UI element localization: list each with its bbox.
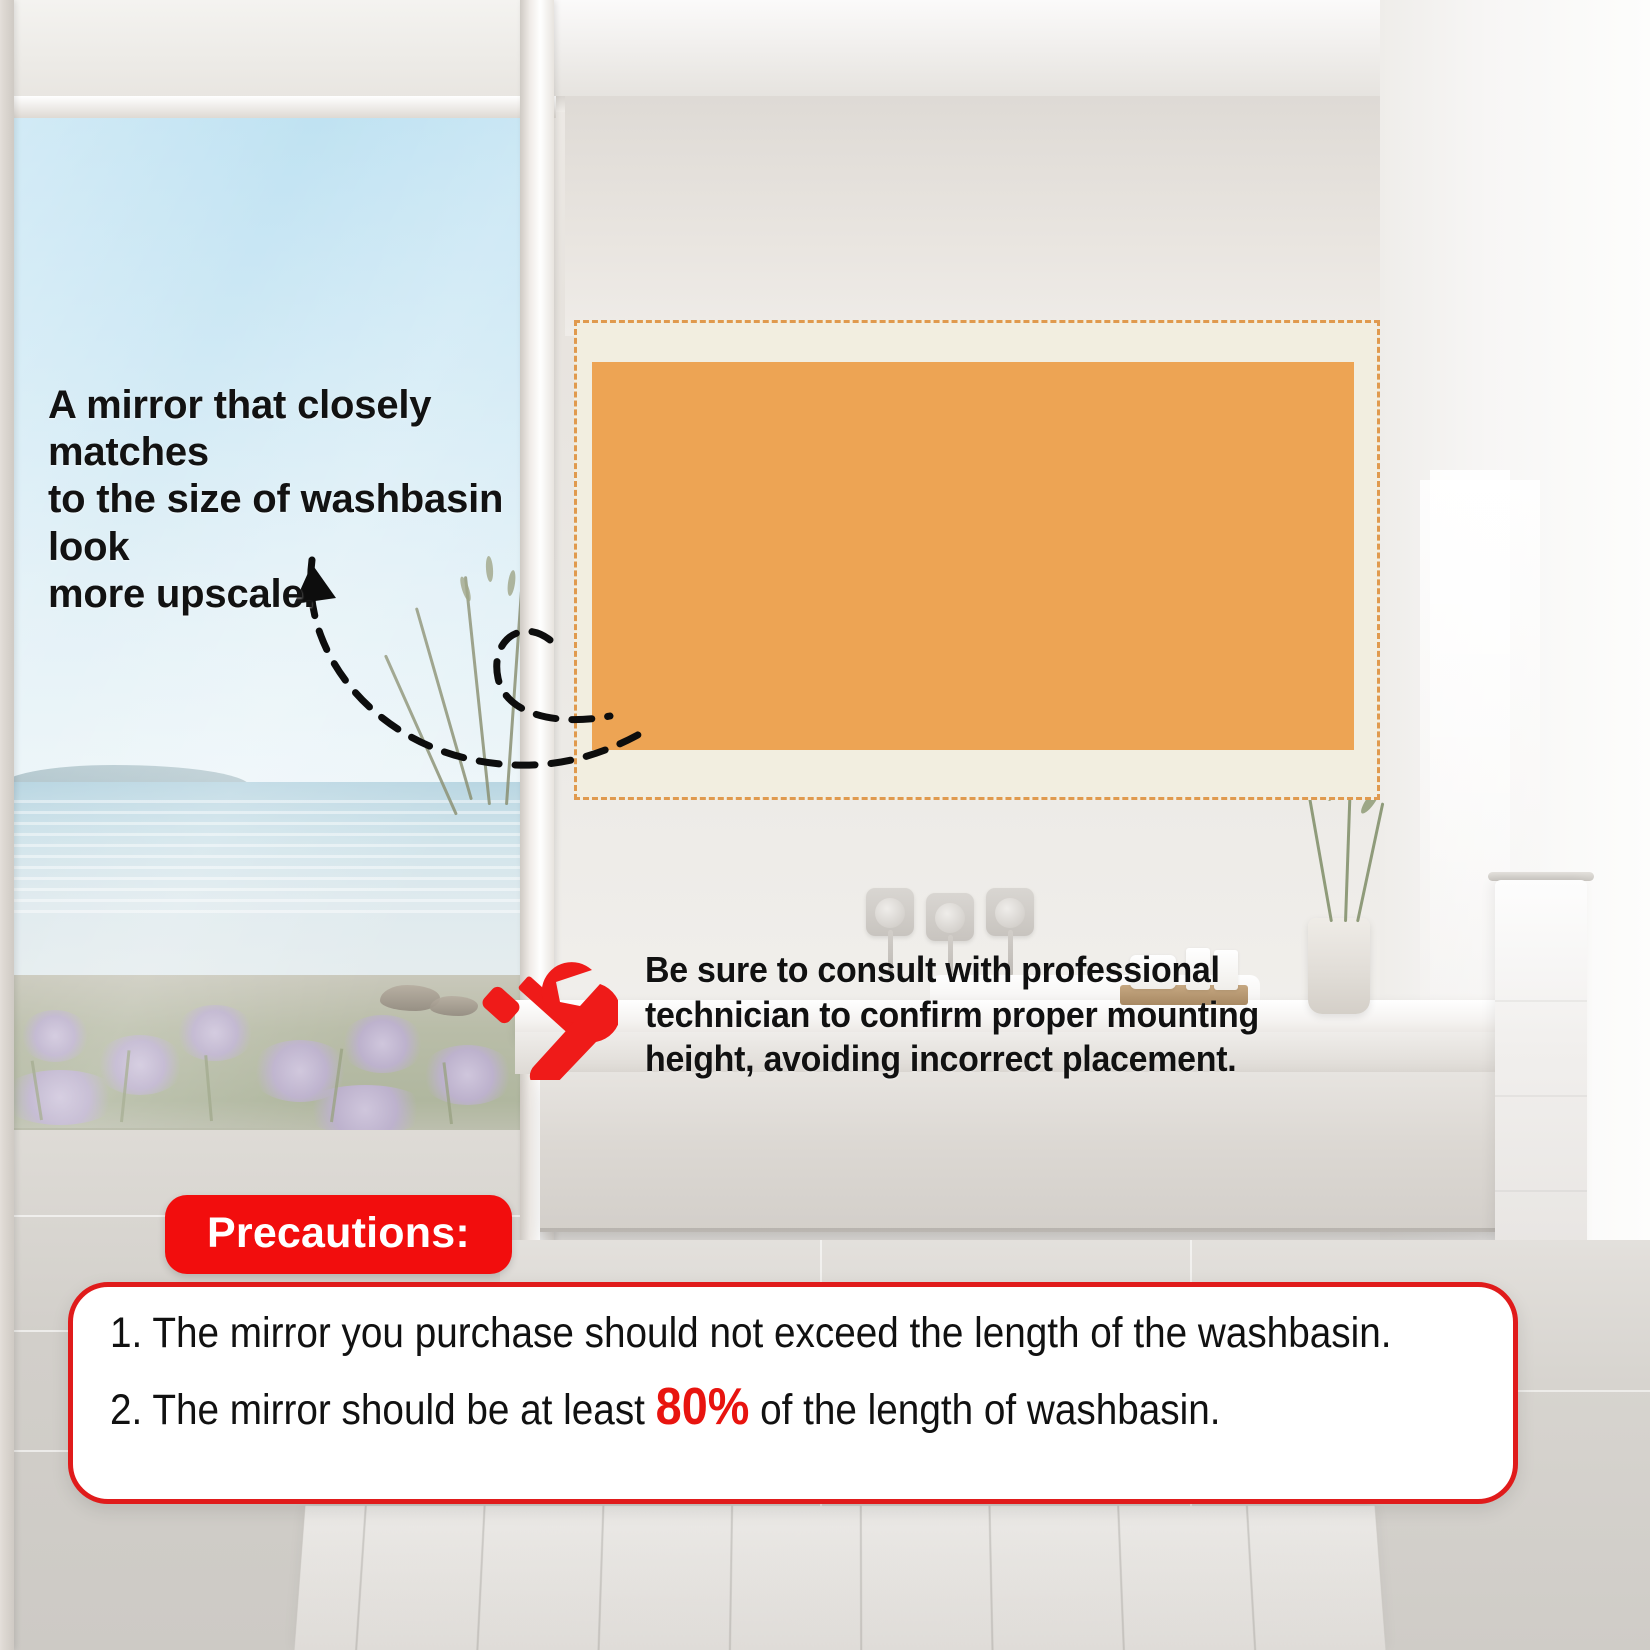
- towel-fold: [1495, 1000, 1587, 1002]
- vanity-cabinet: [540, 1072, 1500, 1232]
- vase: [1308, 918, 1370, 1014]
- precaution-item-2: 2. The mirror should be at least 80% of …: [110, 1367, 1352, 1448]
- lavender-bloom: [20, 1010, 90, 1062]
- precaution-2-prefix: The mirror should be at least: [152, 1386, 645, 1434]
- callout-mid-line1: Be sure to consult with professional: [645, 948, 1305, 993]
- callout-middle-text: Be sure to consult with professional tec…: [645, 948, 1305, 1082]
- callout-top-line3: more upscale.: [48, 571, 588, 618]
- precaution-1-number: 1.: [110, 1309, 142, 1357]
- precautions-list: 1. The mirror you purchase should not ex…: [110, 1300, 1490, 1447]
- lavender-bloom: [0, 1070, 120, 1125]
- rock: [430, 996, 478, 1016]
- bath-rug: [294, 1506, 1385, 1650]
- lavender-bloom: [340, 1015, 425, 1073]
- callout-top-line1: A mirror that closely matches: [48, 382, 588, 476]
- callout-top-line2: to the size of washbasin look: [48, 476, 588, 570]
- precaution-1-text: The mirror you purchase should not excee…: [152, 1309, 1391, 1357]
- callout-mid-line3: height, avoiding incorrect placement.: [645, 1037, 1305, 1082]
- wrench-screwdriver-icon: [478, 952, 618, 1080]
- towel-fold: [1495, 1190, 1587, 1192]
- precaution-item-1: 1. The mirror you purchase should not ex…: [110, 1300, 1352, 1367]
- lavender-bloom: [300, 1085, 430, 1135]
- lavender-bloom: [175, 1005, 255, 1061]
- hanging-towel: [1495, 880, 1587, 1300]
- callout-top-text: A mirror that closely matches to the siz…: [48, 382, 588, 618]
- precautions-badge: Precautions:: [165, 1195, 512, 1274]
- wall-socket: [986, 888, 1034, 936]
- towel-fold: [1495, 1095, 1587, 1097]
- wall-socket: [866, 888, 914, 936]
- callout-mid-line2: technician to confirm proper mounting: [645, 993, 1305, 1038]
- wall-socket: [926, 893, 974, 941]
- precaution-2-number: 2.: [110, 1386, 142, 1434]
- window-frame-top: [0, 96, 556, 118]
- window-frame-left: [0, 0, 14, 1650]
- screenshot-stage: A mirror that closely matches to the siz…: [0, 0, 1650, 1650]
- precaution-2-suffix: of the length of washbasin.: [760, 1386, 1220, 1434]
- precaution-2-highlight: 80%: [656, 1378, 750, 1436]
